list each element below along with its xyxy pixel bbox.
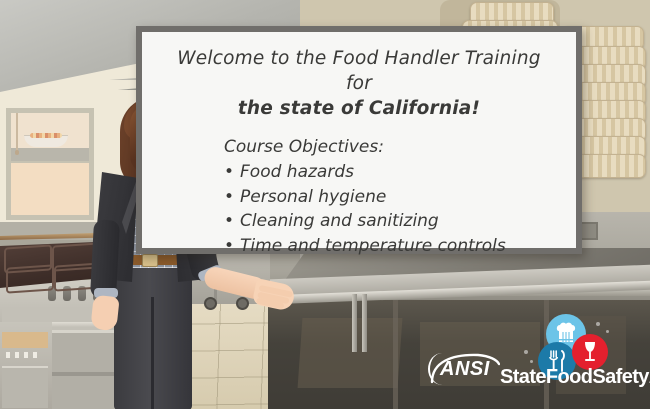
ansi-wordmark: ANSI — [440, 358, 490, 381]
objective-item: •Personal hygiene — [224, 185, 556, 210]
avatar-leg-seam — [151, 297, 154, 409]
bullet-icon: • — [224, 187, 234, 207]
avatar-arm-left — [90, 219, 120, 298]
cord-pull — [15, 150, 19, 155]
bullet-icon: • — [224, 236, 234, 256]
objective-label: Cleaning and sanitizing — [240, 211, 439, 231]
logo-sparkle — [530, 360, 533, 363]
appliance-slot — [2, 332, 48, 348]
appliance-door — [2, 366, 48, 408]
logo-sparkle — [596, 322, 600, 326]
sfs-name-text: StateFoodSafety — [500, 366, 649, 388]
objective-label: Time and temperature controls — [240, 236, 506, 256]
objective-label: Food hazards — [240, 162, 354, 182]
logo-sparkle — [524, 350, 528, 354]
slide-title: Welcome to the Food Handler Training for… — [162, 46, 556, 121]
bullet-icon: • — [224, 162, 234, 182]
slide-title-line2: the state of California! — [162, 96, 556, 121]
logo-sparkle — [606, 330, 609, 333]
wall-shelf-board — [11, 148, 89, 161]
counter-caster-icon — [236, 297, 249, 310]
statefoodsafety-wordmark: StateFoodSafety.com™ — [500, 366, 650, 389]
prep-table-leg — [362, 294, 367, 352]
statefoodsafety-logo: StateFoodSafety.com™ — [500, 314, 640, 396]
slide-canvas: Welcome to the Food Handler Training for… — [0, 0, 650, 409]
objectives-list: •Food hazards •Personal hygiene •Cleanin… — [162, 160, 556, 258]
food-on-plate-icon — [30, 133, 62, 138]
hanging-cord — [16, 113, 18, 153]
objectives-heading: Course Objectives: — [224, 135, 556, 159]
objective-item: •Cleaning and sanitizing — [224, 209, 556, 234]
wine-glass-icon — [581, 341, 599, 363]
wall-shelf-lower — [11, 163, 89, 215]
wine-glass-badge — [572, 334, 608, 370]
objective-item: •Time and temperature controls — [224, 234, 556, 259]
burner-grate-icon — [6, 264, 54, 293]
prep-table-leg — [352, 294, 357, 352]
whiteboard-surface: Welcome to the Food Handler Training for… — [142, 32, 576, 248]
under-counter-divider — [393, 300, 398, 409]
under-counter-box — [298, 318, 403, 388]
slide-title-line1: Welcome to the Food Handler Training for — [177, 48, 540, 94]
appliance-vents — [6, 352, 40, 358]
bullet-icon: • — [224, 211, 234, 231]
ansi-logo: ANSI — [428, 352, 500, 388]
avatar-belt-buckle — [142, 254, 158, 267]
presentation-whiteboard: Welcome to the Food Handler Training for… — [136, 26, 582, 254]
objective-item: •Food hazards — [224, 160, 556, 185]
objective-label: Personal hygiene — [240, 187, 386, 207]
